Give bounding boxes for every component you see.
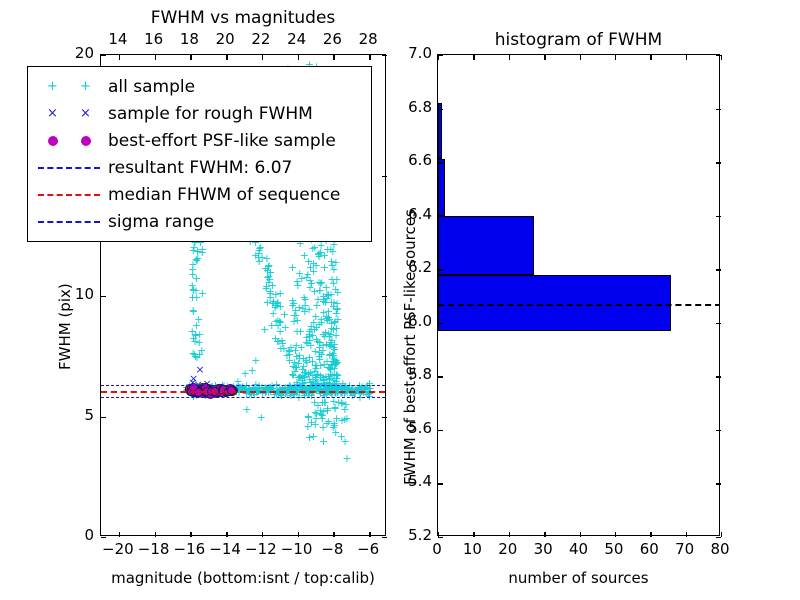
top-xtick-18: 18 xyxy=(177,30,201,48)
hist-xtick-mark xyxy=(686,532,687,537)
hist-ytick-mark xyxy=(438,376,443,377)
xtick-mark xyxy=(190,532,191,537)
bottom-xtick--18: −18 xyxy=(137,540,171,558)
hist-ytick-6.8: 6.8 xyxy=(392,98,432,116)
xtick-mark xyxy=(119,532,120,537)
top-xtick-26: 26 xyxy=(320,30,344,48)
ytick-mark-right xyxy=(382,55,387,56)
ytick-mark-right xyxy=(382,176,387,177)
legend-item-0: ++all sample xyxy=(36,73,361,100)
legend-item-3: resultant FWHM: 6.07 xyxy=(36,154,361,181)
bottom-xtick--10: −10 xyxy=(280,540,314,558)
legend-label: sample for rough FWHM xyxy=(102,104,313,124)
ytick-mark xyxy=(101,537,106,538)
hist-ytick-mark xyxy=(438,483,443,484)
legend-item-2: best-effort PSF-like sample xyxy=(36,127,361,154)
hist-xtick-mark-top xyxy=(650,55,651,60)
hist-ytick-mark-right xyxy=(716,483,721,484)
legend-label: all sample xyxy=(102,77,195,97)
xtick-mark xyxy=(333,532,334,537)
left-ytick-0: 0 xyxy=(62,526,94,544)
legend-cross-icon: ×× xyxy=(36,107,102,120)
xtick-mark xyxy=(369,532,370,537)
hist-xtick-0: 0 xyxy=(421,540,453,558)
scatter-legend: ++all sample××sample for rough FWHMbest-… xyxy=(27,66,372,242)
hist-xtick-mark-top xyxy=(473,55,474,60)
legend-item-4: median FHWM of sequence xyxy=(36,181,361,208)
xtick-mark xyxy=(226,532,227,537)
hist-ytick-mark xyxy=(438,162,443,163)
hist-xtick-50: 50 xyxy=(598,540,630,558)
legend-label: resultant FWHM: 6.07 xyxy=(102,158,292,178)
top-xtick-24: 24 xyxy=(285,30,309,48)
bottom-xtick--8: −8 xyxy=(315,540,349,558)
hist-ytick-mark xyxy=(438,537,443,538)
hist-ytick-mark-right xyxy=(716,55,721,56)
right-panel-title: histogram of FWHM xyxy=(437,30,720,50)
xtick-mark xyxy=(298,532,299,537)
hist-xtick-70: 70 xyxy=(669,540,701,558)
bottom-xtick--12: −12 xyxy=(244,540,278,558)
hist-xtick-60: 60 xyxy=(633,540,665,558)
left-panel-ylabel: FWHM (pix) xyxy=(56,283,74,370)
left-ytick-5: 5 xyxy=(62,406,94,424)
legend-plus-icon: ++ xyxy=(36,80,102,93)
histogram-axis-ticks xyxy=(438,55,719,535)
hist-ytick-mark xyxy=(438,109,443,110)
hist-ytick-mark-right xyxy=(716,323,721,324)
xtick-mark-top xyxy=(262,55,263,60)
hist-xtick-mark xyxy=(509,532,510,537)
bottom-xtick--14: −14 xyxy=(208,540,242,558)
top-xtick-16: 16 xyxy=(142,30,166,48)
hist-ytick-mark xyxy=(438,269,443,270)
legend-dashed-red-icon xyxy=(36,194,102,196)
top-xtick-14: 14 xyxy=(106,30,130,48)
hist-ytick-mark-right xyxy=(716,537,721,538)
hist-xtick-20: 20 xyxy=(492,540,524,558)
xtick-mark-top xyxy=(119,55,120,60)
hist-xtick-mark-top xyxy=(509,55,510,60)
hist-ytick-mark-right xyxy=(716,162,721,163)
left-panel-title: FWHM vs magnitudes xyxy=(100,8,386,28)
legend-label: median FHWM of sequence xyxy=(102,185,340,205)
legend-dashdot-blue-icon xyxy=(36,221,102,223)
xtick-mark-top xyxy=(369,55,370,60)
hist-xtick-mark-top xyxy=(615,55,616,60)
xtick-mark-top xyxy=(298,55,299,60)
hist-xtick-mark xyxy=(721,532,722,537)
right-panel-xlabel: number of sources xyxy=(437,569,720,587)
legend-label: best-effort PSF-like sample xyxy=(102,131,336,151)
figure-canvas: FWHM vs magnitudes 1416182022242628 −20−… xyxy=(0,0,800,600)
hist-xtick-mark xyxy=(650,532,651,537)
hist-xtick-40: 40 xyxy=(563,540,595,558)
hist-ytick-mark-right xyxy=(716,216,721,217)
hist-ytick-mark xyxy=(438,323,443,324)
hist-ytick-mark xyxy=(438,430,443,431)
top-xtick-20: 20 xyxy=(213,30,237,48)
hist-xtick-mark-top xyxy=(544,55,545,60)
hist-xtick-mark-top xyxy=(686,55,687,60)
ytick-mark-right xyxy=(382,537,387,538)
right-panel-ylabel: FWHM of best-effort PSF-like sources xyxy=(401,209,419,485)
hist-ytick-6.6: 6.6 xyxy=(392,151,432,169)
ytick-mark-right xyxy=(382,296,387,297)
hist-ytick-mark xyxy=(438,55,443,56)
hist-ytick-mark-right xyxy=(716,269,721,270)
ytick-mark xyxy=(101,296,106,297)
hist-ytick-mark-right xyxy=(716,109,721,110)
legend-dot-icon xyxy=(36,136,102,146)
hist-ytick-7.0: 7.0 xyxy=(392,44,432,62)
xtick-mark-top xyxy=(226,55,227,60)
xtick-mark xyxy=(262,532,263,537)
hist-xtick-30: 30 xyxy=(527,540,559,558)
top-xtick-28: 28 xyxy=(356,30,380,48)
hist-xtick-mark-top xyxy=(721,55,722,60)
hist-xtick-mark xyxy=(473,532,474,537)
xtick-mark-top xyxy=(155,55,156,60)
left-ytick-20: 20 xyxy=(62,44,94,62)
ytick-mark-right xyxy=(382,417,387,418)
hist-xtick-80: 80 xyxy=(704,540,736,558)
ytick-mark xyxy=(101,55,106,56)
hist-xtick-mark-top xyxy=(580,55,581,60)
xtick-mark-top xyxy=(190,55,191,60)
hist-ytick-mark-right xyxy=(716,430,721,431)
top-xtick-22: 22 xyxy=(249,30,273,48)
hist-xtick-mark xyxy=(544,532,545,537)
xtick-mark-top xyxy=(333,55,334,60)
bottom-xtick--20: −20 xyxy=(101,540,135,558)
legend-item-5: sigma range xyxy=(36,208,361,235)
legend-dashed-blue-icon xyxy=(36,167,102,169)
hist-xtick-mark xyxy=(615,532,616,537)
histogram-axes xyxy=(437,54,720,536)
hist-xtick-mark xyxy=(580,532,581,537)
left-panel-xlabel: magnitude (bottom:isnt / top:calib) xyxy=(100,569,386,587)
bottom-xtick--6: −6 xyxy=(351,540,385,558)
hist-xtick-10: 10 xyxy=(456,540,488,558)
hist-ytick-mark xyxy=(438,216,443,217)
bottom-xtick--16: −16 xyxy=(172,540,206,558)
legend-label: sigma range xyxy=(102,212,214,232)
ytick-mark xyxy=(101,417,106,418)
hist-ytick-mark-right xyxy=(716,376,721,377)
legend-item-1: ××sample for rough FWHM xyxy=(36,100,361,127)
xtick-mark xyxy=(155,532,156,537)
